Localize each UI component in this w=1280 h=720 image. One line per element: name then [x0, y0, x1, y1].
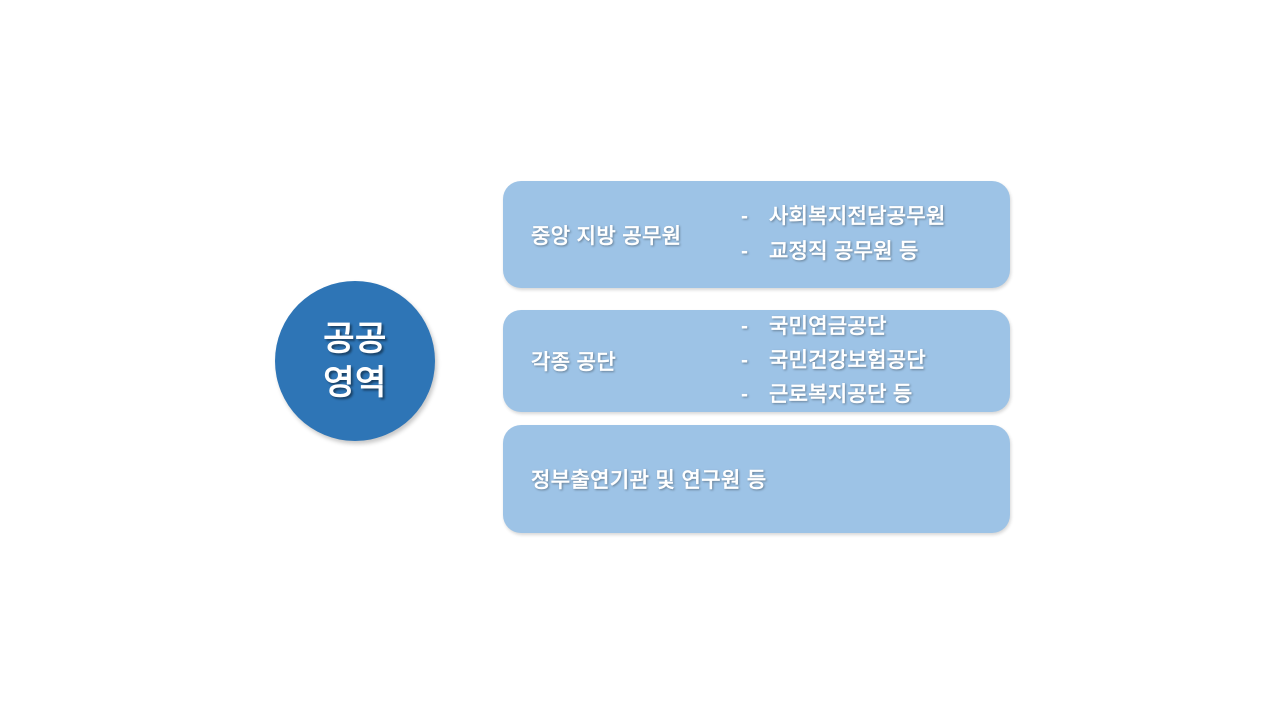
public-sector-circle[interactable]: 공공 영역 [275, 281, 435, 441]
list-item: - 교정직 공무원 등 [741, 235, 1010, 269]
list-item: - 국민연금공단 [741, 310, 1010, 344]
category-item-list: - 국민연금공단 - 국민건강보험공단 - 근로복지공단 등 [741, 310, 1010, 412]
list-item-label: 국민연금공단 [769, 310, 887, 344]
category-label: 각종 공단 [503, 346, 741, 376]
circle-title-line-1: 공공 [323, 317, 387, 361]
list-item-label: 국민건강보험공단 [769, 344, 926, 378]
list-item-label: 근로복지공단 등 [769, 378, 912, 412]
dash-bullet-icon: - [741, 235, 769, 269]
circle-title-line-2: 영역 [323, 361, 387, 405]
category-label: 중앙 지방 공무원 [503, 220, 741, 250]
dash-bullet-icon: - [741, 344, 769, 378]
list-item: - 국민건강보험공단 [741, 344, 1010, 378]
category-box-government-funded-institutes[interactable]: 정부출연기관 및 연구원 등 [503, 425, 1010, 533]
category-label: 정부출연기관 및 연구원 등 [503, 464, 767, 494]
list-item: - 근로복지공단 등 [741, 378, 1010, 412]
list-item-label: 교정직 공무원 등 [769, 235, 919, 269]
category-box-central-local-officials[interactable]: 중앙 지방 공무원 - 사회복지전담공무원 - 교정직 공무원 등 [503, 181, 1010, 288]
dash-bullet-icon: - [741, 310, 769, 344]
dash-bullet-icon: - [741, 200, 769, 234]
slide-canvas: 공공 영역 중앙 지방 공무원 - 사회복지전담공무원 - 교정직 공무원 등 … [0, 0, 1280, 720]
category-box-public-corporations[interactable]: 각종 공단 - 국민연금공단 - 국민건강보험공단 - 근로복지공단 등 [503, 310, 1010, 412]
category-item-list: - 사회복지전담공무원 - 교정직 공무원 등 [741, 200, 1010, 268]
dash-bullet-icon: - [741, 378, 769, 412]
list-item: - 사회복지전담공무원 [741, 200, 1010, 234]
list-item-label: 사회복지전담공무원 [769, 200, 946, 234]
